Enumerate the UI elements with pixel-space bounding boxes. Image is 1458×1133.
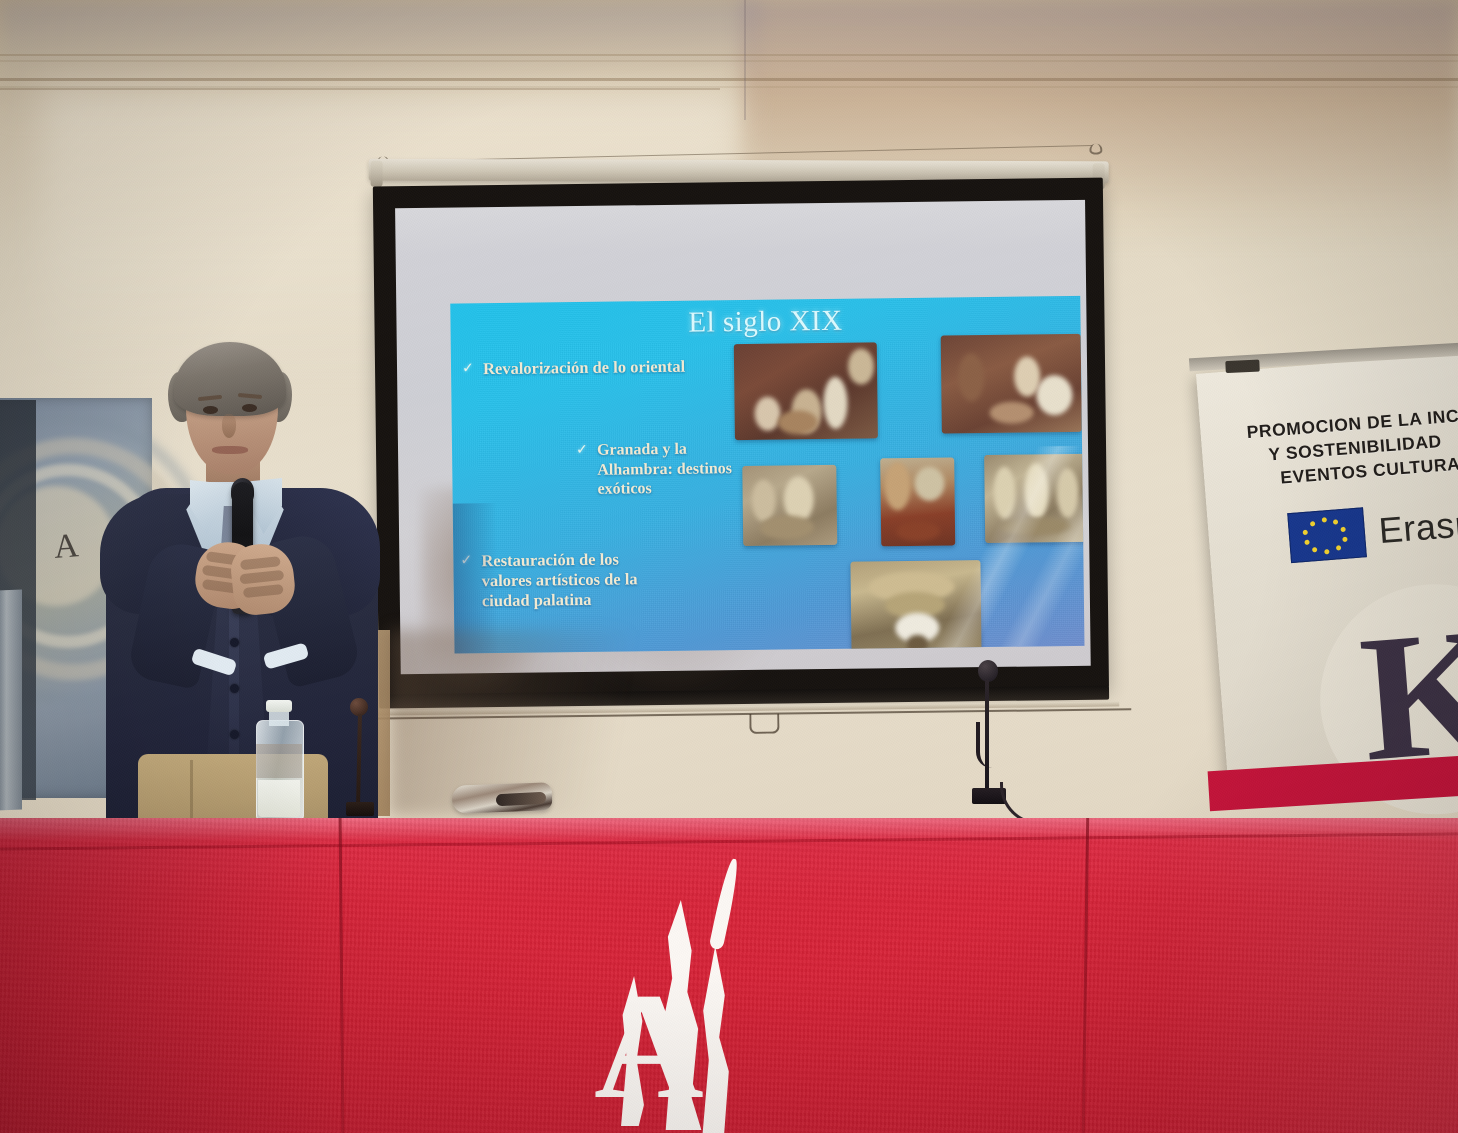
- cloth-seam: [1082, 818, 1089, 1133]
- screen-hook-icon: [1089, 144, 1102, 155]
- screen-black-border: El siglo XIX ✓ Revalorización de lo orie…: [373, 178, 1109, 697]
- slide-thumbnail-4: [880, 457, 955, 546]
- table-microphone: [344, 698, 374, 820]
- cardigan-button: [230, 638, 239, 647]
- slide-bullet-1-text: Revalorización de lo oriental: [483, 357, 685, 378]
- slide-bullet-3: ✓ Restauración de los valores artísticos…: [481, 549, 672, 612]
- eu-flag-icon: [1287, 507, 1367, 563]
- frame-edge: [0, 590, 22, 811]
- bottle-cap: [266, 700, 292, 712]
- slide-thumbnail-2: [941, 334, 1082, 434]
- slide-bullet-3-text: Restauración de los valores artísticos d…: [481, 550, 637, 611]
- bottle-label: [256, 744, 302, 778]
- cornice-moulding: [0, 78, 1458, 81]
- microphone-bend: [976, 722, 996, 768]
- microphone-base: [346, 802, 374, 816]
- wall-seam: [744, 0, 746, 120]
- cloth-shading: [0, 818, 340, 1133]
- microphone-capsule: [978, 660, 998, 682]
- slide-thumbnail-5: [984, 454, 1084, 543]
- cloth-shading: [1158, 818, 1458, 1133]
- microphone-stem: [356, 714, 362, 806]
- rollup-banner: PROMOCION DE LA INC Y SOSTENIBILIDAD EVE…: [1196, 350, 1458, 788]
- slide-bullet-2: ✓ Granada y la Alhambra: destinos exótic…: [597, 439, 758, 499]
- checkmark-icon: ✓: [460, 552, 472, 569]
- checkmark-icon: ✓: [576, 442, 588, 459]
- slide-thumbnail-6: [850, 560, 981, 653]
- slide-bullet-2-text: Granada y la Alhambra: destinos exóticos: [597, 441, 732, 498]
- presentation-photo-scene: A El siglo XIX ✓ Revalorización de lo: [0, 0, 1458, 1133]
- checkmark-icon: ✓: [462, 360, 474, 377]
- screen-pull-tab[interactable]: [749, 714, 779, 734]
- banner-clip: [1225, 360, 1259, 373]
- cardigan-button: [230, 684, 239, 693]
- slide-thumbnail-1: [734, 342, 878, 440]
- tablecloth-logo: A: [590, 858, 850, 1133]
- tablecloth-logo-letter: A: [594, 970, 704, 1122]
- wall-art-a-mark: A: [53, 527, 80, 567]
- slide-thumbnail-3: [742, 465, 837, 546]
- speaker-nose: [222, 414, 236, 438]
- banner-program-name: Erasmu: [1377, 500, 1458, 552]
- red-tablecloth: A: [0, 818, 1458, 1133]
- speaker-eye: [203, 406, 218, 414]
- cornice-moulding: [0, 54, 1458, 56]
- water-bottle: [256, 700, 302, 818]
- speaker-mouth: [212, 446, 248, 454]
- speaker-eye: [242, 404, 257, 412]
- projected-slide: El siglo XIX ✓ Revalorización de lo orie…: [450, 296, 1084, 654]
- bottle-water-level: [258, 780, 300, 817]
- cornice-moulding: [0, 60, 1458, 62]
- roller-end-cap: [371, 161, 383, 187]
- cornice-moulding: [0, 88, 720, 90]
- screen-surface: El siglo XIX ✓ Revalorización de lo orie…: [395, 200, 1091, 674]
- speaker-hair: [174, 342, 286, 416]
- cardigan-button: [230, 730, 239, 739]
